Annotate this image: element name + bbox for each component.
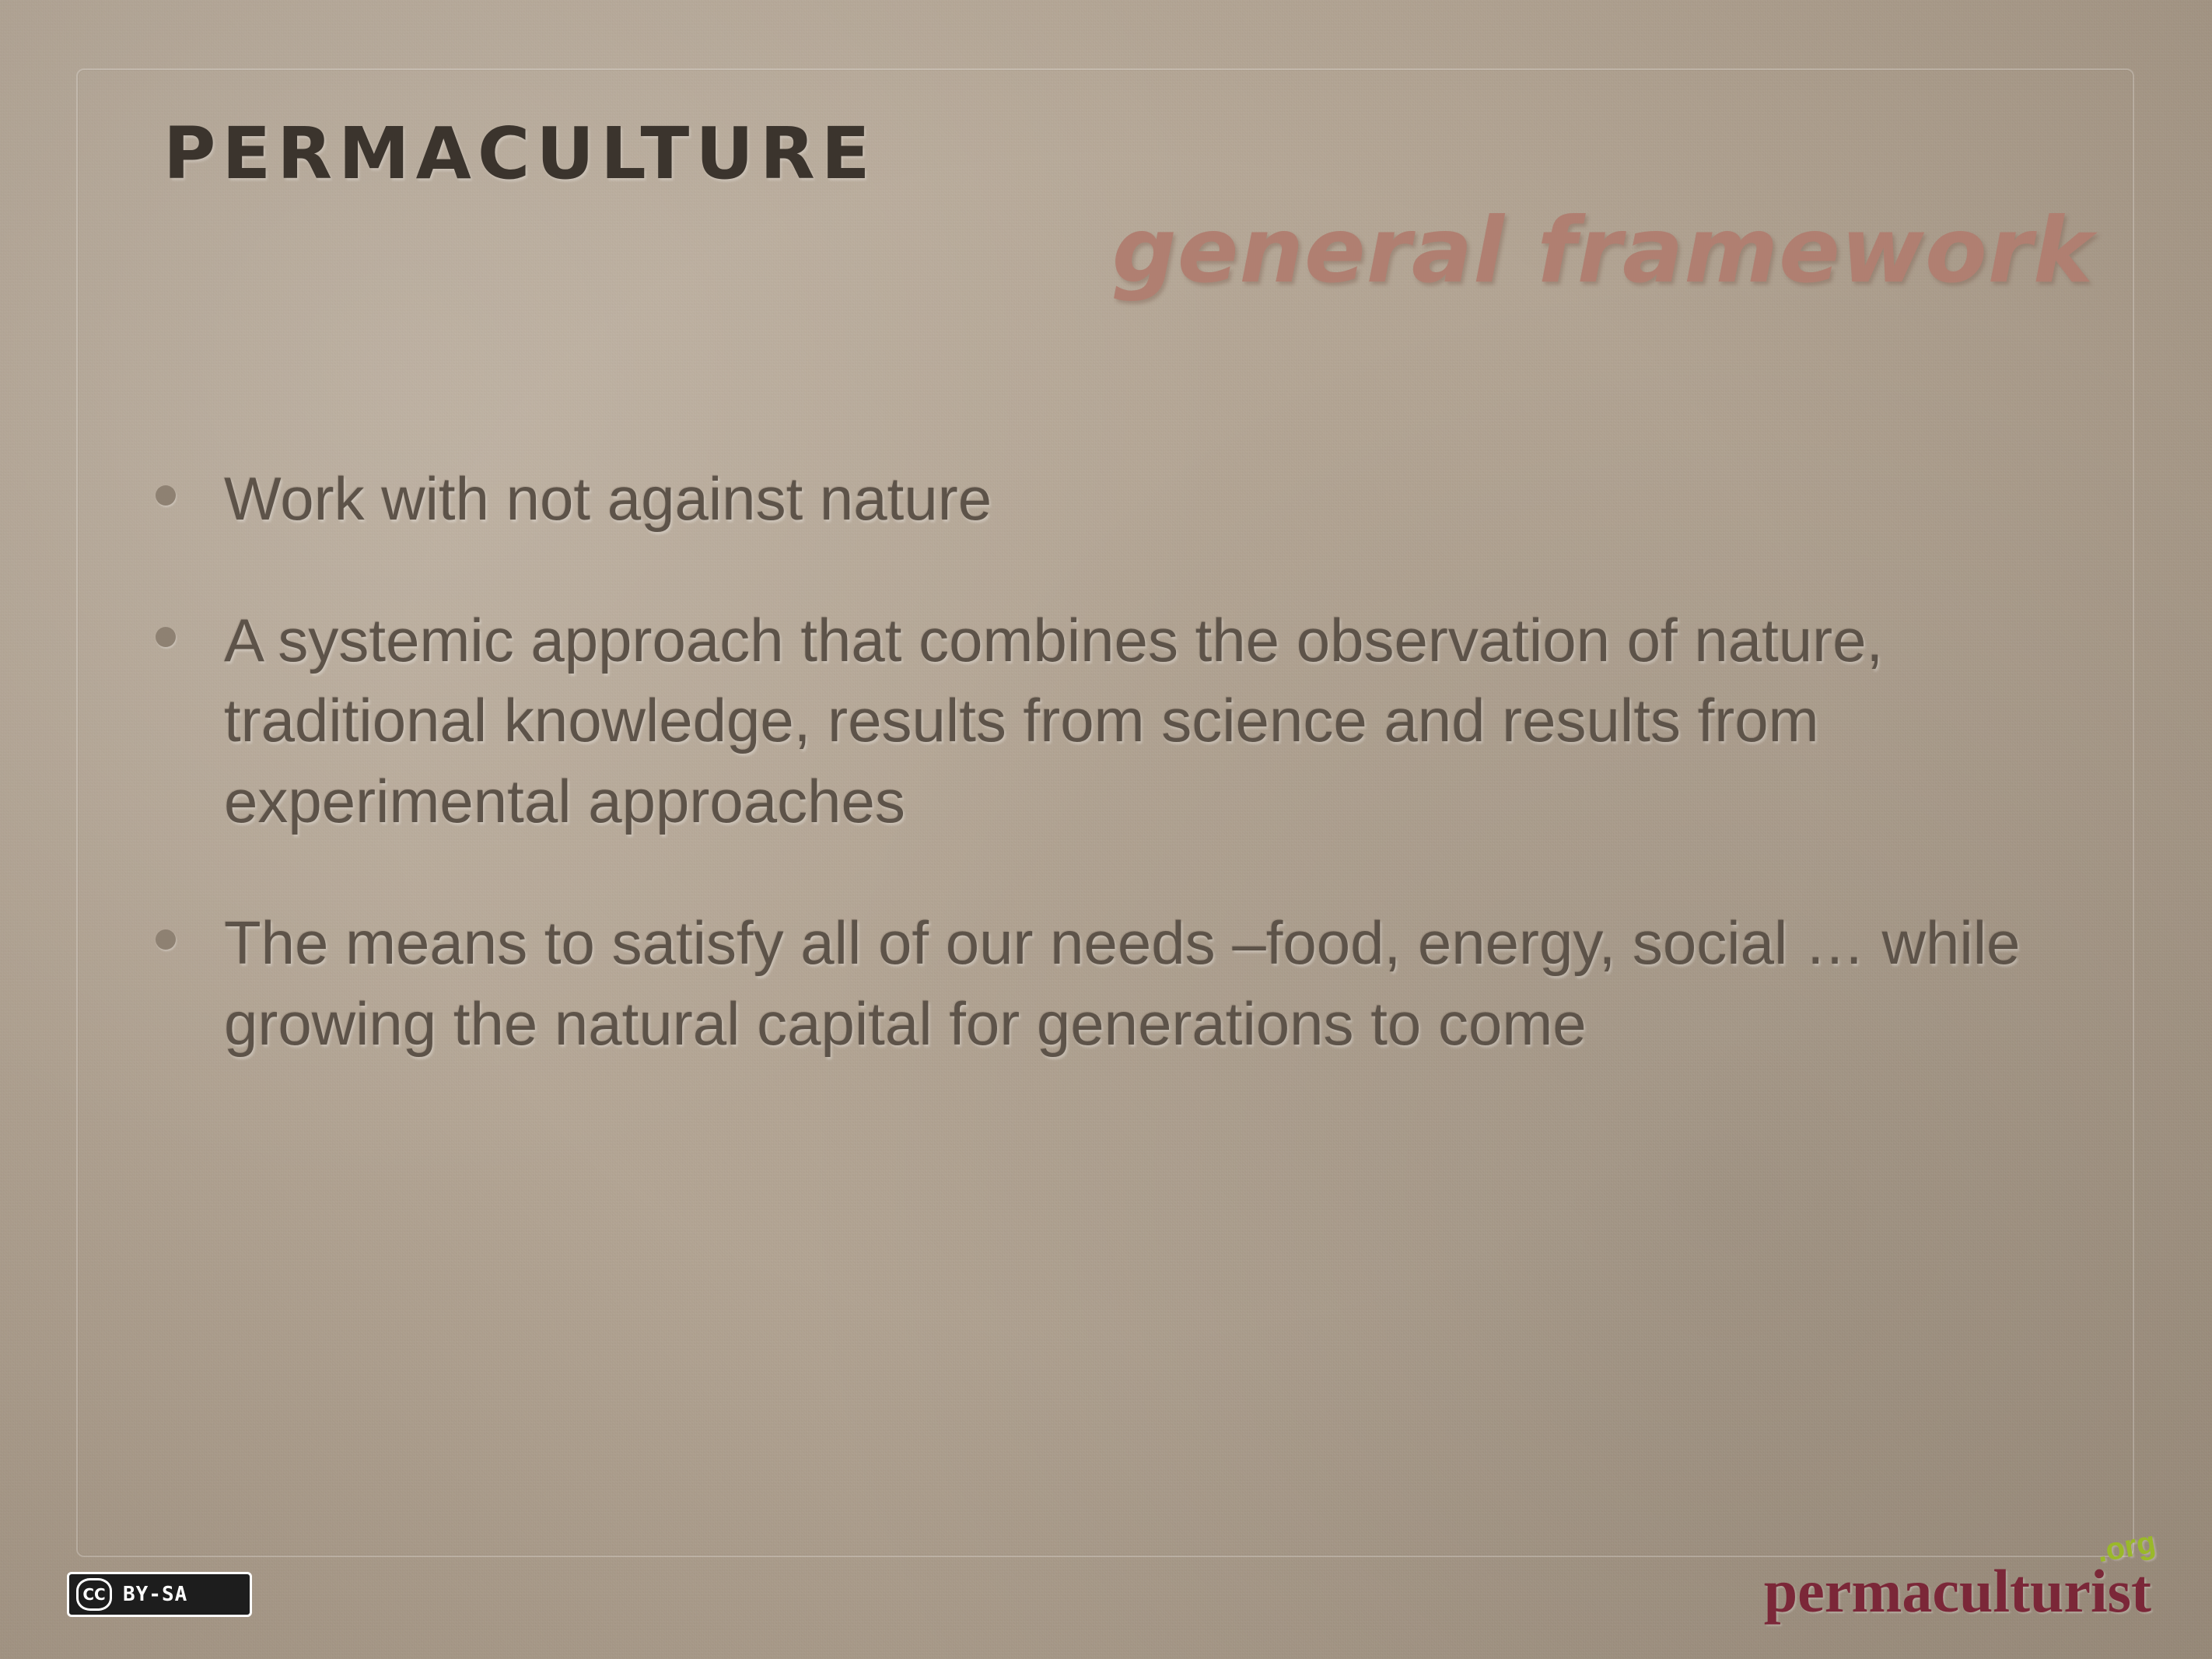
bullet-dot-icon — [156, 485, 176, 506]
slide-canvas: PERMACULTURE general framework Work with… — [0, 0, 2212, 1659]
site-logo: permaculturist .org — [1764, 1556, 2151, 1626]
bullet-list: Work with not against nature A systemic … — [156, 459, 2116, 1064]
page-subtitle: general framework — [163, 198, 2108, 303]
list-item-text: Work with not against nature — [224, 459, 2075, 540]
list-item: The means to satisfy all of our needs –f… — [156, 903, 2116, 1064]
title-block: PERMACULTURE general framework — [163, 117, 2108, 303]
list-item-text: A systemic approach that combines the ob… — [224, 600, 2060, 842]
cc-license-terms: BY-SA — [123, 1583, 187, 1606]
list-item: A systemic approach that combines the ob… — [156, 600, 2116, 842]
bullet-dot-icon — [156, 627, 176, 647]
creative-commons-badge: CC BY-SA — [67, 1572, 252, 1617]
list-item-text: The means to satisfy all of our needs –f… — [224, 903, 2036, 1064]
site-logo-name: permaculturist — [1764, 1557, 2151, 1625]
list-item: Work with not against nature — [156, 459, 2116, 540]
cc-icon: CC — [76, 1578, 112, 1611]
page-title: PERMACULTURE — [163, 117, 2108, 192]
bullet-dot-icon — [156, 929, 176, 950]
